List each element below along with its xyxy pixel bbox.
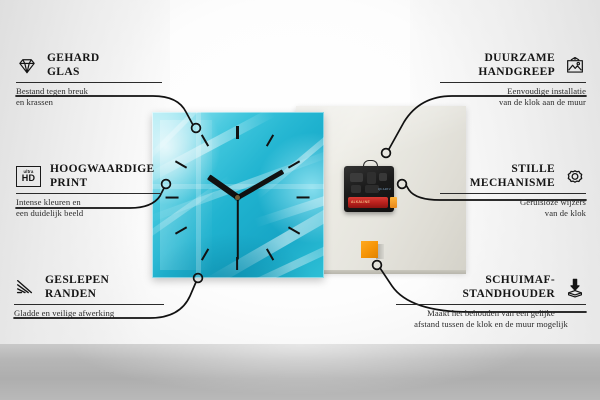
feature-subtitle-line1: Geruisloze wijzers [440,197,586,208]
feature-gehard-glas: GEHARD GLAS Bestand tegen breuk en krass… [16,52,162,108]
feature-geslepen-randen: GESLEPEN RANDEN Gladde en veilige afwerk… [14,274,164,319]
feature-subtitle-line2: een duidelijk beeld [16,208,162,219]
feature-divider [396,304,586,305]
feature-subtitle-line1: Bestand tegen breuk [16,86,162,97]
feature-header: ultra HD HOOGWAARDIGE PRINT [16,163,162,190]
feature-subtitle-line1: Gladde en veilige afwerking [14,308,164,319]
picture-frame-icon [564,55,586,77]
feature-header: DUURZAME HANDGREEP [440,52,586,79]
feature-subtitle-line1: Maakt het behouden van een gelijke [396,308,586,319]
down-arrow-block-icon [564,277,586,299]
feature-divider [440,193,586,194]
ultra-hd-icon: ultra HD [16,166,41,187]
feature-subtitle-line2: afstand tussen de klok en de muur mogeli… [396,319,586,330]
feature-subtitle-line2: van de klok [440,208,586,219]
feature-subtitle-line1: Eenvoudige installatie [440,86,586,97]
feature-title: HOOGWAARDIGE PRINT [50,163,155,190]
product-infographic: QUARTZ ALKALINE [0,0,600,400]
gear-icon [564,166,586,188]
feature-hoogwaardige-print: ultra HD HOOGWAARDIGE PRINT Intense kleu… [16,163,162,219]
feature-schuimaf-standhouder: SCHUIMAF- STANDHOUDER Maakt het behouden… [396,274,586,330]
feature-header: STILLE MECHANISME [440,163,586,190]
feature-header: GEHARD GLAS [16,52,162,79]
feature-title: STILLE MECHANISME [470,163,555,190]
feature-header: SCHUIMAF- STANDHOUDER [396,274,586,301]
feature-header: GESLEPEN RANDEN [14,274,164,301]
feature-divider [16,193,162,194]
feature-title: SCHUIMAF- STANDHOUDER [463,274,555,301]
feature-title: GESLEPEN RANDEN [45,274,109,301]
feature-stille-mechanisme: STILLE MECHANISME Geruisloze wijzers van… [440,163,586,219]
feature-divider [16,82,162,83]
feature-divider [440,82,586,83]
feature-duurzame-handgreep: DUURZAME HANDGREEP Eenvoudige installati… [440,52,586,108]
feature-title: DUURZAME HANDGREEP [478,52,555,79]
feature-subtitle-line2: van de klok aan de muur [440,97,586,108]
diamond-icon [16,55,38,77]
bevelled-edges-icon [14,277,36,299]
feature-divider [14,304,164,305]
feature-subtitle-line1: Intense kleuren en [16,197,162,208]
feature-title: GEHARD GLAS [47,52,100,79]
feature-subtitle-line2: en krassen [16,97,162,108]
